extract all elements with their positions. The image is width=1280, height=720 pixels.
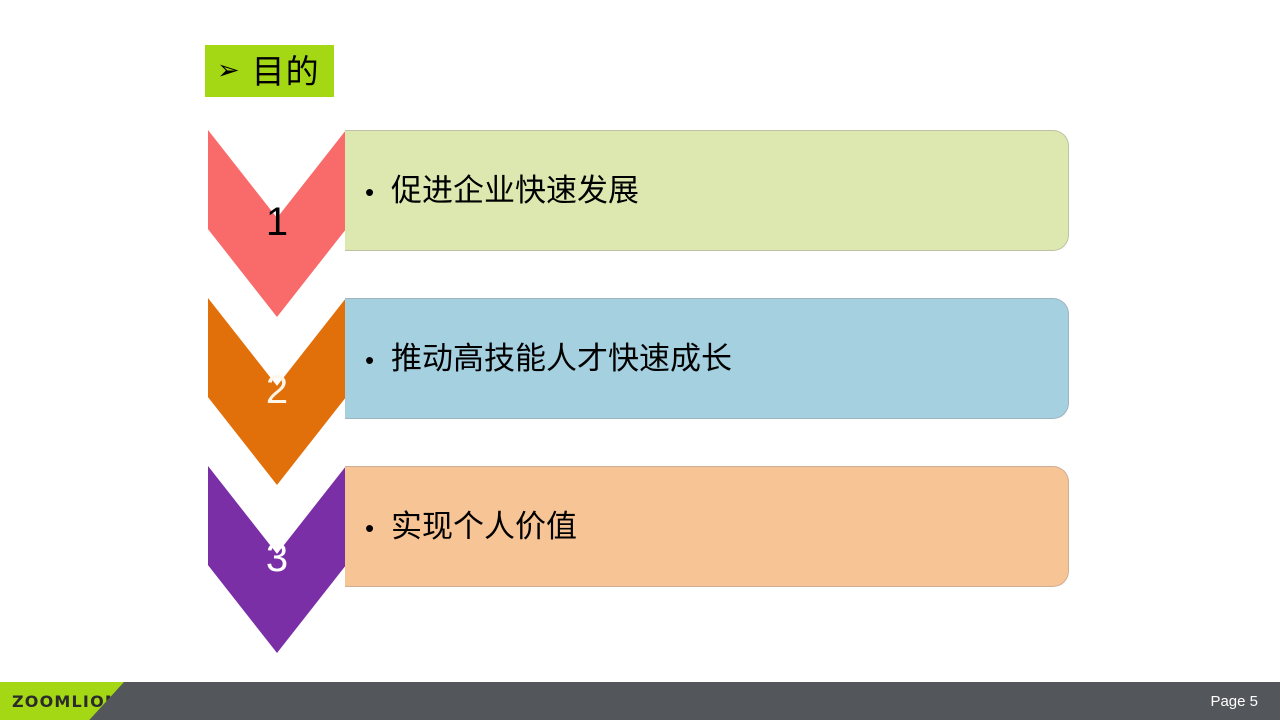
content-panel-2: •推动高技能人才快速成长 xyxy=(345,298,1069,419)
content-panel-1: •促进企业快速发展 xyxy=(345,130,1069,251)
panel-label-1: 促进企业快速发展 xyxy=(391,173,639,208)
panel-label-2: 推动高技能人才快速成长 xyxy=(391,341,732,376)
slide-canvas: ➢ 目的 1 •促进企业快速发展 2 •推动高技能人才快速成长 xyxy=(0,0,1280,720)
zoomlion-logo: ZOOMLION xyxy=(0,692,119,711)
chevron-list: 1 •促进企业快速发展 2 •推动高技能人才快速成长 3 •实现 xyxy=(0,0,1280,720)
slide-footer: ZOOMLION Page 5 xyxy=(0,682,1280,720)
page-number: Page 5 xyxy=(1210,682,1258,720)
brand-badge: ZOOMLION xyxy=(0,682,124,720)
bullet-icon-2: • xyxy=(365,345,391,376)
content-panel-3: •实现个人价值 xyxy=(345,466,1069,587)
panel-text-2: •推动高技能人才快速成长 xyxy=(345,340,732,377)
chevron-number-2: 2 xyxy=(208,370,346,410)
bullet-icon-1: • xyxy=(365,177,391,208)
panel-text-3: •实现个人价值 xyxy=(345,508,577,545)
bullet-icon-3: • xyxy=(365,513,391,544)
panel-text-1: •促进企业快速发展 xyxy=(345,172,639,209)
panel-label-3: 实现个人价值 xyxy=(391,509,577,544)
chevron-number-1: 1 xyxy=(208,202,346,242)
chevron-number-3: 3 xyxy=(208,538,346,578)
